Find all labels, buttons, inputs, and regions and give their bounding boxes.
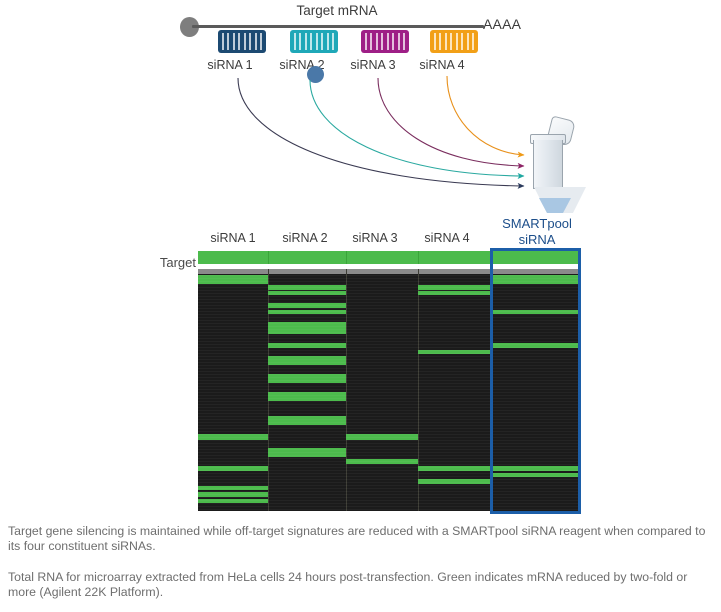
heatmap-cell-reduced [418, 291, 490, 295]
heatmap-striation [198, 320, 580, 321]
heatmap-row [198, 442, 580, 446]
microcentrifuge-tube-icon [527, 118, 571, 218]
caption-primary: Target gene silencing is maintained whil… [8, 524, 708, 554]
heatmap-row [198, 403, 580, 408]
heatmap-cell-reduced [268, 303, 346, 308]
heatmap-row [198, 285, 580, 290]
mrna-schematic: Target mRNA AAAA siRNA 1siRNA 2siRNA 3si… [0, 0, 721, 215]
heatmap-row [198, 459, 580, 464]
heatmap-striation [198, 446, 580, 447]
tube-liquid [539, 198, 571, 213]
heatmap-row-label-target: Target [142, 255, 196, 270]
smartpool-target-bar [493, 251, 578, 264]
heatmap-cell-reduced [490, 466, 580, 471]
heatmap-row [198, 316, 580, 320]
smartpool-header-gap [493, 264, 578, 269]
heatmap-striation [198, 341, 580, 342]
heatmap-row [198, 303, 580, 308]
heatmap-cell-reduced [346, 434, 418, 440]
smartpool-label-line2: siRNA [488, 232, 586, 248]
heatmap-cell-reduced [490, 343, 580, 348]
figure-root: Target mRNA AAAA siRNA 1siRNA 2siRNA 3si… [0, 0, 721, 612]
heatmap-row [198, 291, 580, 295]
heatmap-cell-reduced [198, 434, 268, 440]
heatmap-cell-reduced [490, 473, 580, 477]
heatmap-row [198, 310, 580, 314]
heatmap-striation [198, 314, 580, 315]
heatmap-cell-reduced [198, 466, 268, 471]
heatmap-cell-reduced [418, 285, 490, 290]
heatmap-cell-reduced [346, 459, 418, 464]
heatmap-row [198, 275, 580, 284]
heatmap-cell-reduced [268, 374, 346, 383]
heatmap-striation [198, 497, 580, 498]
heatmap-row [198, 434, 580, 440]
heatmap-striation [198, 308, 580, 309]
heatmap-cell-reduced [268, 448, 346, 457]
heatmap-row [198, 427, 580, 432]
heatmap-cell-reduced [490, 275, 580, 284]
heatmap-cell-reduced [268, 343, 346, 348]
heatmap-row [198, 499, 580, 503]
heatmap-row [198, 473, 580, 477]
heatmap-row [198, 322, 580, 334]
heatmap-striation [198, 425, 580, 426]
heatmap-striation [198, 503, 580, 504]
heatmap-row [198, 392, 580, 401]
heatmap-row [198, 448, 580, 457]
heatmap-column-label-smartpool: SMARTpool siRNA [488, 216, 586, 248]
caption-secondary: Total RNA for microarray extracted from … [8, 570, 708, 600]
heatmap-cell-reduced [268, 392, 346, 401]
heatmap-cell-reduced [418, 466, 490, 471]
heatmap-separator-band [198, 269, 580, 274]
heatmap-cell-reduced [198, 492, 268, 497]
microarray-heatmap: SMARTpool siRNA siRNA 1siRNA 2siRNA 3siR… [0, 215, 721, 520]
heatmap-row [198, 297, 580, 301]
heatmap-cell-reduced [268, 322, 346, 334]
heatmap-row [198, 492, 580, 497]
heatmap-cell-reduced [268, 356, 346, 365]
heatmap-row [198, 486, 580, 490]
heatmap-cell-reduced [268, 285, 346, 290]
heatmap-striation [198, 464, 580, 465]
heatmap-striation [198, 401, 580, 402]
heatmap-striation [198, 383, 580, 384]
heatmap-grid [198, 269, 580, 511]
heatmap-row [198, 505, 580, 509]
heatmap-cell-reduced [198, 486, 268, 490]
heatmap-cell-reduced [268, 416, 346, 425]
heatmap-column-label-4: siRNA 4 [404, 231, 490, 245]
heatmap-row [198, 385, 580, 390]
smartpool-label-line1: SMARTpool [488, 216, 586, 232]
heatmap-cell-reduced [198, 275, 268, 284]
heatmap-cell-reduced [418, 479, 490, 484]
heatmap-row [198, 466, 580, 471]
heatmap-row [198, 410, 580, 414]
heatmap-cell-reduced [268, 310, 346, 314]
heatmap-striation [198, 509, 580, 510]
heatmap-row [198, 367, 580, 372]
heatmap-row [198, 350, 580, 354]
heatmap-striation [198, 440, 580, 441]
heatmap-row [198, 343, 580, 348]
heatmap-row [198, 336, 580, 341]
heatmap-cell-reduced [418, 350, 490, 354]
heatmap-row [198, 374, 580, 383]
heatmap-row [198, 479, 580, 484]
heatmap-striation [198, 365, 580, 366]
sirna-arrow-paths [0, 0, 721, 215]
heatmap-cell-reduced [490, 310, 580, 314]
heatmap-cell-reduced [198, 499, 268, 503]
heatmap-cell-reduced [268, 291, 346, 295]
heatmap-row [198, 416, 580, 425]
heatmap-row [198, 356, 580, 365]
tube-body [533, 140, 563, 189]
